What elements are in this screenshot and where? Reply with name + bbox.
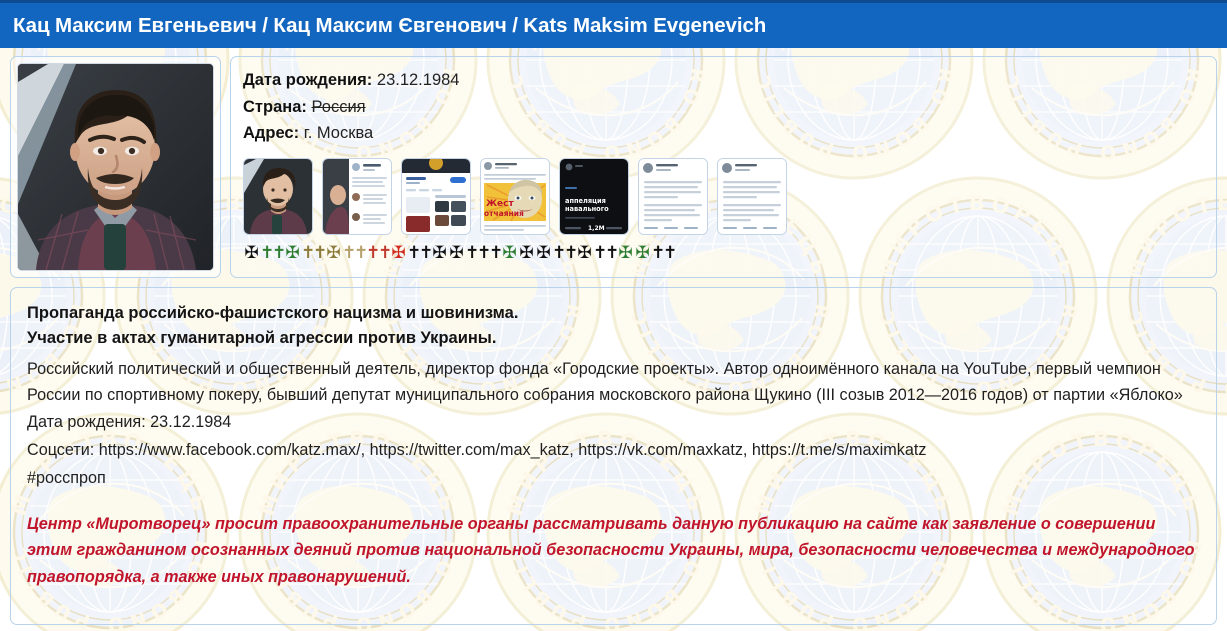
birthdate-text: Дата рождения: 23.12.1984 <box>27 410 1200 436</box>
profile-section: Дата рождения: 23.12.1984 Страна: Россия… <box>10 56 1217 278</box>
latin-cross-icon: ✝ <box>419 245 431 262</box>
info-label: Адрес: <box>243 124 299 142</box>
maltese-cross-icon: ✠ <box>448 245 465 262</box>
latin-cross-icon: ✝ <box>465 245 477 262</box>
socials-text: Соцсети: https://www.facebook.com/katz.m… <box>27 438 1200 464</box>
photo-panel <box>10 56 221 278</box>
maltese-cross-icon: ✠ <box>501 245 518 262</box>
latin-cross-icon: ✝ <box>663 245 675 262</box>
maltese-cross-icon: ✠ <box>243 245 260 262</box>
latin-cross-icon: ✝ <box>489 245 501 262</box>
svg-text:1,2M: 1,2M <box>588 225 605 232</box>
maltese-cross-icon: ✠ <box>325 245 342 262</box>
latin-cross-icon: ✝ <box>564 245 576 262</box>
hashtag-text: #росспроп <box>27 466 1200 492</box>
maltese-cross-icon: ✠ <box>634 245 651 262</box>
thumb-article-putin[interactable]: Жестотчаяния <box>480 158 550 235</box>
info-value: г. Москва <box>304 124 374 142</box>
latin-cross-icon: ✝ <box>651 245 663 262</box>
cross-separator: ✠✝✝✠✝✝✠✝✝✝✝✠✝✝✠✠✝✝✝✠✠✠✝✝✠✝✝✠✠✝✝ <box>243 243 1204 263</box>
info-row-address: Адрес: г. Москва <box>243 120 1204 147</box>
page-content: Дата рождения: 23.12.1984 Страна: Россия… <box>0 48 1227 625</box>
thumb-video-dark[interactable]: аппеляциянавального1,2M <box>559 158 629 235</box>
latin-cross-icon: ✝ <box>260 245 272 262</box>
svg-text:отчаяния: отчаяния <box>484 209 524 218</box>
latin-cross-icon: ✝ <box>342 245 354 262</box>
info-value: 23.12.1984 <box>377 71 460 89</box>
charge-line-2: Участие в актах гуманитарной агрессии пр… <box>27 326 1200 351</box>
latin-cross-icon: ✝ <box>552 245 564 262</box>
svg-text:навального: навального <box>565 205 609 213</box>
info-label: Дата рождения: <box>243 71 372 89</box>
info-value: Россия <box>311 98 365 116</box>
latin-cross-icon: ✝ <box>366 245 378 262</box>
page-header: Кац Максим Евгеньевич / Кац Максим Євген… <box>0 0 1227 48</box>
maltese-cross-icon: ✠ <box>390 245 407 262</box>
latin-cross-icon: ✝ <box>301 245 313 262</box>
thumb-social-post-2[interactable] <box>638 158 708 235</box>
maltese-cross-icon: ✠ <box>617 245 634 262</box>
page-title: Кац Максим Евгеньевич / Кац Максим Євген… <box>13 14 766 38</box>
dossier-panel: Пропаганда российско-фашистского нацизма… <box>10 287 1217 625</box>
latin-cross-icon: ✝ <box>605 245 617 262</box>
charge-line-1: Пропаганда российско-фашистского нацизма… <box>27 301 1200 326</box>
maltese-cross-icon: ✠ <box>284 245 301 262</box>
thumb-social-post-1[interactable] <box>322 158 392 235</box>
svg-text:аппеляция: аппеляция <box>565 197 606 205</box>
info-row-birthdate: Дата рождения: 23.12.1984 <box>243 67 1204 94</box>
thumb-social-post-3[interactable] <box>717 158 787 235</box>
thumb-portrait[interactable] <box>243 158 313 235</box>
latin-cross-icon: ✝ <box>313 245 325 262</box>
latin-cross-icon: ✝ <box>593 245 605 262</box>
maltese-cross-icon: ✠ <box>518 245 535 262</box>
legal-warning-text: Центр «Миротворец» просит правоохранител… <box>27 511 1200 590</box>
maltese-cross-icon: ✠ <box>535 245 552 262</box>
profile-photo <box>17 63 214 271</box>
svg-text:Жест: Жест <box>486 199 514 209</box>
latin-cross-icon: ✝ <box>272 245 284 262</box>
latin-cross-icon: ✝ <box>407 245 419 262</box>
thumbnail-gallery: Жестотчаянияаппеляциянавального1,2M <box>243 158 1204 235</box>
info-row-country: Страна: Россия <box>243 94 1204 121</box>
latin-cross-icon: ✝ <box>378 245 390 262</box>
info-panel: Дата рождения: 23.12.1984 Страна: Россия… <box>230 56 1217 278</box>
thumb-youtube-channel[interactable] <box>401 158 471 235</box>
info-label: Страна: <box>243 98 307 116</box>
maltese-cross-icon: ✠ <box>431 245 448 262</box>
biography-text: Российский политический и общественный д… <box>27 357 1200 408</box>
latin-cross-icon: ✝ <box>354 245 366 262</box>
latin-cross-icon: ✝ <box>477 245 489 262</box>
maltese-cross-icon: ✠ <box>576 245 593 262</box>
